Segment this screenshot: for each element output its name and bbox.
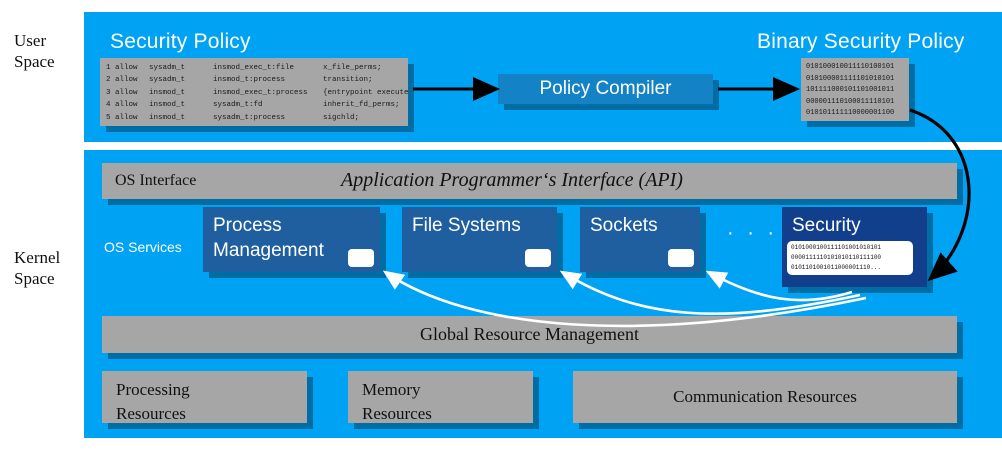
service-tab-process-management[interactable] xyxy=(348,249,374,267)
binary-code-line: 101111000101101001011 xyxy=(806,85,904,97)
policy-code-line: 5allowinsmod_tsysadm_t:processsigchld; xyxy=(106,112,402,124)
user-space-label: User Space xyxy=(14,30,55,72)
resource-box-communication: Communication Resources xyxy=(573,371,957,423)
policy-code-line: 3allowinsmod_tinsmod_exec_t:process{entr… xyxy=(106,87,402,99)
binary-code-line: 010100001111101010101 xyxy=(806,74,904,86)
binary-code-line: 010100010011110100101 xyxy=(806,62,904,74)
diagram-canvas: User Space Kernel Space Security Policy … xyxy=(0,0,1002,450)
resource-label-communication: Communication Resources xyxy=(673,385,857,409)
policy-compiler-box[interactable]: Policy Compiler xyxy=(498,74,713,104)
services-ellipsis: · · · xyxy=(727,222,778,245)
binary-code-line: 000001110100011110101 xyxy=(806,97,904,109)
resource-box-memory: Memory Resources xyxy=(348,371,533,423)
binary-security-policy-heading: Binary Security Policy xyxy=(757,30,964,54)
global-resource-management-label: Global Resource Management xyxy=(420,324,639,345)
service-label-file-systems: File Systems xyxy=(412,215,521,236)
security-server-code-line: 0000111110101010110111100 xyxy=(791,253,910,263)
policy-code-line: 1allowsysadm_tinsmod_exec_t:filex_file_p… xyxy=(106,62,402,74)
security-server-code-line: 0101000100111101001010101 xyxy=(791,243,910,253)
policy-code-line: 2allowsysadm_tinsmod_t:processtransition… xyxy=(106,74,402,86)
resource-label-processing: Processing Resources xyxy=(116,380,190,423)
kernel-space-label: Kernel Space xyxy=(14,247,60,289)
security-server-code-line: 0101101001011000001110... xyxy=(791,263,910,273)
resource-label-memory: Memory Resources xyxy=(362,380,432,423)
service-tab-sockets[interactable] xyxy=(668,249,694,267)
policy-code-line: 4allowinsmod_tsysadm_t:fdinherit_fd_perm… xyxy=(106,99,402,111)
service-label-sockets: Sockets xyxy=(590,215,658,236)
service-label-process-management: Process Management xyxy=(213,215,324,261)
binary-security-policy-code-block: 0101000100111101001010101000011111010101… xyxy=(801,58,909,121)
security-policy-code-block: 1allowsysadm_tinsmod_exec_t:filex_file_p… xyxy=(100,58,408,126)
resource-box-processing: Processing Resources xyxy=(102,371,307,423)
binary-code-line: 010101111110000001100 xyxy=(806,108,904,120)
global-resource-management-bar: Global Resource Management xyxy=(102,316,957,353)
os-services-label: OS Services xyxy=(104,239,182,255)
service-tab-file-systems[interactable] xyxy=(525,249,551,267)
os-interface-label: OS Interface xyxy=(115,172,196,190)
api-label: Application Programmer‘s Interface (API) xyxy=(341,169,683,192)
policy-compiler-label: Policy Compiler xyxy=(540,78,672,100)
security-policy-heading: Security Policy xyxy=(110,30,251,54)
security-server-code-block: 0101000100111101001010101000011111010101… xyxy=(787,241,913,275)
